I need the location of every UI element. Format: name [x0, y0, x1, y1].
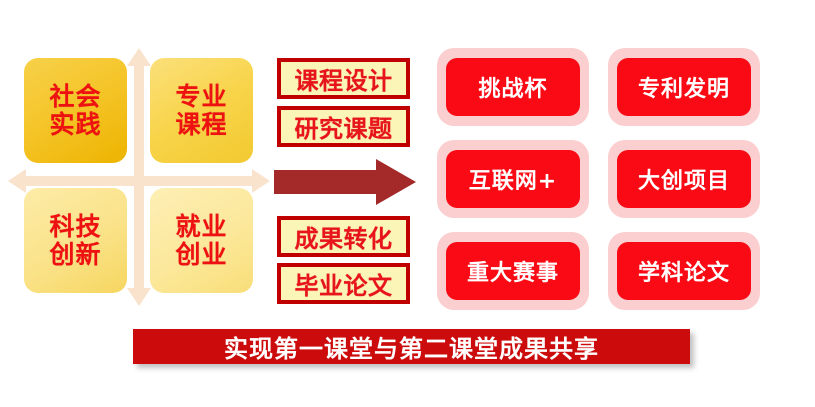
middle-box-label: 研究课题	[295, 109, 393, 144]
outcome-box-label: 大创项目	[638, 163, 730, 195]
bottom-banner: 实现第一课堂与第二课堂成果共享	[133, 329, 690, 364]
outcome-box-patent-invention[interactable]: 专利发明	[608, 48, 760, 126]
quadrant-label-line1: 就业	[175, 213, 227, 241]
outcome-box-inner: 大创项目	[617, 150, 751, 208]
outcome-box-internet-plus[interactable]: 互联网+	[437, 140, 589, 218]
outcome-box-label: 互联网+	[469, 163, 557, 195]
outcome-box-label: 重大赛事	[467, 255, 559, 287]
bottom-banner-text: 实现第一课堂与第二课堂成果共享	[224, 329, 599, 364]
outcome-box-inner: 互联网+	[446, 150, 580, 208]
quadrant-box-social-practice[interactable]: 社会 实践	[24, 58, 127, 163]
outcome-box-inner: 重大赛事	[446, 242, 580, 300]
outcome-box-label: 专利发明	[638, 71, 730, 103]
outcome-box-innovation-project[interactable]: 大创项目	[608, 140, 760, 218]
middle-box-research-topic[interactable]: 研究课题	[277, 106, 410, 147]
quadrant-label-line1: 专业	[175, 83, 227, 111]
quadrant-label-line1: 社会	[49, 83, 101, 111]
quadrant-label-line1: 科技	[49, 213, 101, 241]
middle-box-course-design[interactable]: 课程设计	[277, 58, 410, 99]
outcome-box-label: 挑战杯	[478, 71, 547, 103]
outcome-box-label: 学科论文	[638, 255, 730, 287]
outcome-box-major-competitions[interactable]: 重大赛事	[437, 232, 589, 310]
outcome-box-inner: 挑战杯	[446, 58, 580, 116]
middle-box-graduation-thesis[interactable]: 毕业论文	[277, 263, 410, 304]
outcome-box-challenge-cup[interactable]: 挑战杯	[437, 48, 589, 126]
quadrant-box-major-courses[interactable]: 专业 课程	[150, 58, 253, 163]
quadrant-label-line2: 课程	[175, 111, 227, 139]
quadrant-box-employment-entrepreneurship[interactable]: 就业 创业	[150, 188, 253, 293]
quadrant-matrix: 社会 实践 专业 课程 科技 创新 就业 创业	[8, 48, 270, 306]
right-arrow-icon	[272, 157, 418, 207]
quadrant-label-line2: 实践	[49, 111, 101, 139]
middle-box-achievement-transformation[interactable]: 成果转化	[277, 216, 410, 257]
quadrant-label-line2: 创新	[49, 241, 101, 269]
outcome-box-inner: 学科论文	[617, 242, 751, 300]
outcome-box-inner: 专利发明	[617, 58, 751, 116]
middle-box-label: 毕业论文	[295, 266, 393, 301]
middle-box-label: 成果转化	[295, 219, 393, 254]
quadrant-box-tech-innovation[interactable]: 科技 创新	[24, 188, 127, 293]
outcome-box-academic-papers[interactable]: 学科论文	[608, 232, 760, 310]
slide-canvas: 社会 实践 专业 课程 科技 创新 就业 创业 课程设计 研究课题 成果转化 毕…	[0, 0, 815, 407]
quadrant-label-line2: 创业	[175, 241, 227, 269]
middle-box-label: 课程设计	[295, 61, 393, 96]
